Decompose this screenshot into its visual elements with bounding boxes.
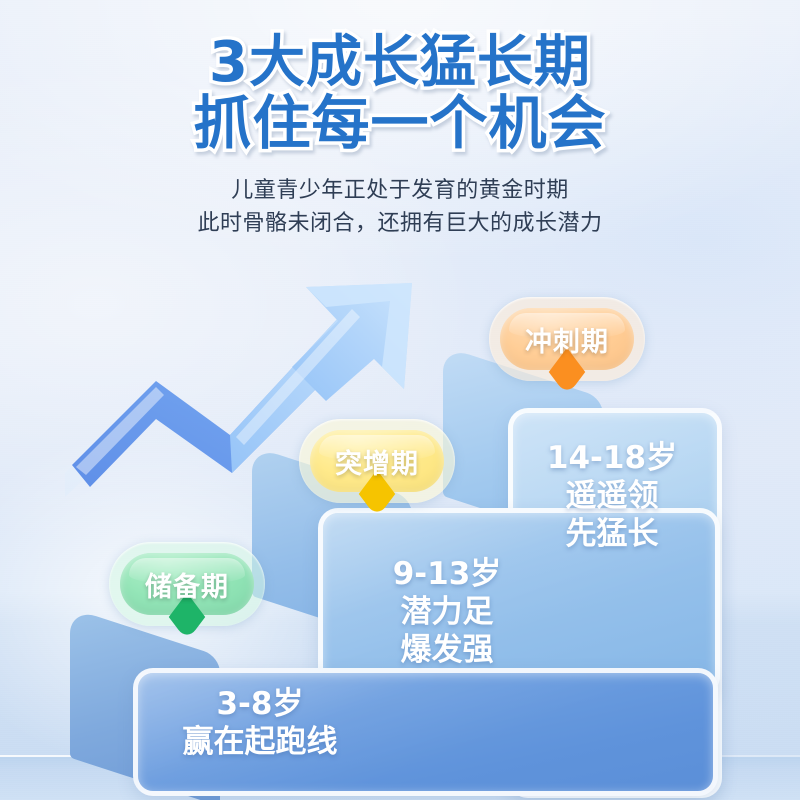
step-2-line-3: 爆发强 [352, 632, 542, 670]
subtitle-line-2: 此时骨骼未闭合，还拥有巨大的成长潜力 [0, 207, 800, 240]
poster-header: 3大成长猛长期 抓住每一个机会 儿童青少年正处于发育的黄金时期 此时骨骼未闭合，… [0, 34, 800, 240]
step-3-label: 14-18岁 遥遥领 先猛长 [527, 440, 697, 553]
growth-stages-poster: 3大成长猛长期 抓住每一个机会 儿童青少年正处于发育的黄金时期 此时骨骼未闭合，… [0, 0, 800, 800]
stage-badge-surge[interactable]: 突增期 [310, 430, 444, 492]
stage-badge-sprint[interactable]: 冲刺期 [500, 308, 634, 370]
step-2-line-2: 潜力足 [352, 594, 542, 632]
step-2-age: 9-13岁 [352, 556, 542, 594]
step-3-age: 14-18岁 [527, 440, 697, 478]
step-1-label: 3-8岁 赢在起跑线 [150, 686, 370, 762]
subtitle-block: 儿童青少年正处于发育的黄金时期 此时骨骼未闭合，还拥有巨大的成长潜力 [0, 174, 800, 240]
step-3-line-2: 遥遥领 [527, 478, 697, 516]
step-1-age: 3-8岁 [150, 686, 370, 724]
stage-badge-surge-label: 突增期 [335, 442, 419, 481]
page-title-line-1: 3大成长猛长期 [0, 34, 800, 92]
stage-badge-reserve-label: 储备期 [145, 565, 229, 604]
step-2-label: 9-13岁 潜力足 爆发强 [352, 556, 542, 669]
step-3-line-3: 先猛长 [527, 516, 697, 554]
stage-badge-sprint-label: 冲刺期 [525, 320, 609, 359]
page-title-line-2: 抓住每一个机会 [0, 94, 800, 152]
subtitle-line-1: 儿童青少年正处于发育的黄金时期 [0, 174, 800, 207]
stage-badge-reserve[interactable]: 储备期 [120, 553, 254, 615]
step-1-line-2: 赢在起跑线 [150, 724, 370, 762]
